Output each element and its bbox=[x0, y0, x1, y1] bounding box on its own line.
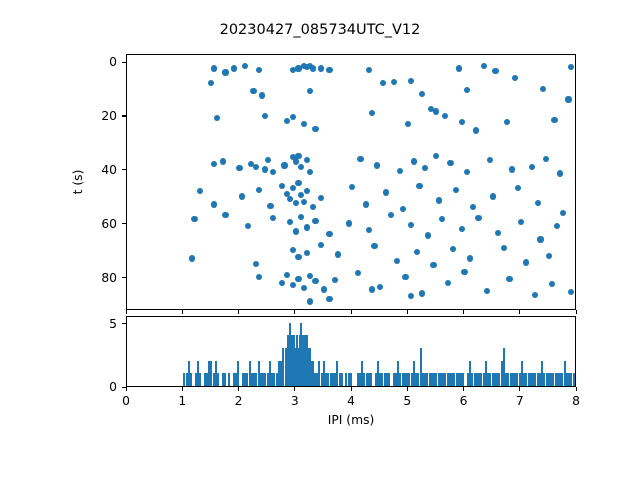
scatter-point bbox=[453, 187, 459, 193]
scatter-point bbox=[279, 183, 285, 189]
scatter-point bbox=[245, 223, 251, 229]
scatter-x-tick bbox=[519, 310, 520, 314]
scatter-point bbox=[450, 246, 456, 252]
scatter-point bbox=[405, 121, 411, 127]
scatter-x-tick bbox=[238, 310, 239, 314]
scatter-point bbox=[293, 158, 299, 164]
scatter-point bbox=[318, 65, 324, 71]
scatter-point bbox=[369, 110, 375, 116]
scatter-point bbox=[445, 280, 451, 286]
scatter-point bbox=[475, 215, 481, 221]
scatter-point bbox=[411, 158, 417, 164]
histogram-x-ticklabel: 3 bbox=[291, 394, 299, 408]
scatter-point bbox=[281, 162, 287, 168]
figure-title: 20230427_085734UTC_V12 bbox=[0, 22, 640, 38]
scatter-point bbox=[374, 162, 380, 168]
histogram-x-tick bbox=[182, 387, 183, 391]
scatter-point bbox=[262, 166, 268, 172]
scatter-point bbox=[447, 160, 453, 166]
scatter-point bbox=[532, 292, 538, 298]
scatter-point bbox=[377, 284, 383, 290]
scatter-point bbox=[301, 121, 307, 127]
scatter-point bbox=[197, 188, 203, 194]
scatter-point bbox=[549, 281, 555, 287]
scatter-point bbox=[284, 272, 290, 278]
scatter-x-tick bbox=[182, 310, 183, 314]
scatter-point bbox=[419, 290, 425, 296]
scatter-point bbox=[189, 255, 195, 261]
scatter-point bbox=[298, 192, 304, 198]
histogram-x-tick bbox=[463, 387, 464, 391]
scatter-point bbox=[293, 200, 299, 206]
scatter-point bbox=[464, 87, 470, 93]
scatter-point bbox=[363, 201, 369, 207]
histogram-x-ticklabel: 6 bbox=[460, 394, 468, 408]
histogram-bar bbox=[224, 373, 226, 386]
scatter-point bbox=[515, 185, 521, 191]
histogram-x-tick bbox=[576, 387, 577, 391]
histogram-bar bbox=[199, 373, 201, 386]
scatter-point bbox=[400, 206, 406, 212]
scatter-point bbox=[551, 117, 557, 123]
scatter-point bbox=[416, 183, 422, 189]
scatter-point bbox=[557, 170, 563, 176]
scatter-x-tick bbox=[126, 310, 127, 314]
scatter-point bbox=[554, 223, 560, 229]
scatter-point bbox=[543, 156, 549, 162]
scatter-point bbox=[509, 166, 515, 172]
scatter-point bbox=[535, 200, 541, 206]
scatter-point bbox=[211, 161, 217, 167]
scatter-point bbox=[366, 67, 372, 73]
scatter-point bbox=[492, 68, 498, 74]
scatter-point bbox=[301, 285, 307, 291]
scatter-point bbox=[422, 165, 428, 171]
scatter-point bbox=[357, 156, 363, 162]
histogram-bar bbox=[575, 373, 576, 386]
scatter-point bbox=[293, 228, 299, 234]
scatter-point bbox=[236, 165, 242, 171]
scatter-point bbox=[495, 230, 501, 236]
histogram-bar bbox=[237, 361, 239, 386]
scatter-point bbox=[270, 215, 276, 221]
scatter-point bbox=[270, 169, 276, 175]
scatter-point bbox=[512, 75, 518, 81]
scatter-point bbox=[253, 164, 259, 170]
scatter-point bbox=[501, 245, 507, 251]
histogram-bar bbox=[370, 373, 372, 386]
histogram-y-tick bbox=[122, 323, 126, 324]
histogram-x-ticklabel: 2 bbox=[235, 394, 243, 408]
histogram-bar bbox=[350, 373, 352, 386]
scatter-point bbox=[304, 250, 310, 256]
scatter-point bbox=[290, 185, 296, 191]
scatter-point bbox=[290, 282, 296, 288]
scatter-point bbox=[312, 278, 318, 284]
scatter-point bbox=[523, 259, 529, 265]
scatter-point bbox=[335, 251, 341, 257]
scatter-point bbox=[371, 243, 377, 249]
scatter-point bbox=[312, 126, 318, 132]
scatter-point bbox=[304, 224, 310, 230]
scatter-point bbox=[419, 91, 425, 97]
scatter-plot-axes bbox=[126, 54, 576, 310]
scatter-point bbox=[298, 214, 304, 220]
scatter-point bbox=[529, 164, 535, 170]
scatter-point bbox=[310, 65, 316, 71]
scatter-point bbox=[568, 64, 574, 70]
histogram-x-ticklabel: 7 bbox=[516, 394, 524, 408]
scatter-point bbox=[253, 261, 259, 267]
scatter-point bbox=[414, 249, 420, 255]
scatter-point bbox=[425, 232, 431, 238]
scatter-point bbox=[287, 219, 293, 225]
scatter-point bbox=[459, 119, 465, 125]
scatter-point bbox=[267, 203, 273, 209]
histogram-x-tick bbox=[294, 387, 295, 391]
scatter-y-tick bbox=[122, 62, 126, 63]
histogram-y-ticklabel: 0 bbox=[109, 380, 117, 394]
histogram-bar bbox=[341, 373, 343, 386]
scatter-point bbox=[433, 108, 439, 114]
scatter-point bbox=[355, 270, 361, 276]
scatter-point bbox=[537, 236, 543, 242]
scatter-x-tick bbox=[351, 310, 352, 314]
scatter-point bbox=[436, 197, 442, 203]
scatter-point bbox=[290, 114, 296, 120]
scatter-point bbox=[481, 63, 487, 69]
histogram-y-ticklabel: 5 bbox=[109, 317, 117, 331]
scatter-x-tick bbox=[294, 310, 295, 314]
scatter-point bbox=[506, 276, 512, 282]
scatter-point bbox=[279, 280, 285, 286]
scatter-point bbox=[383, 189, 389, 195]
histogram-bar bbox=[190, 373, 192, 386]
scatter-point bbox=[295, 180, 301, 186]
scatter-y-ticklabel: 80 bbox=[101, 271, 117, 285]
scatter-point bbox=[326, 296, 332, 302]
histogram-x-tick bbox=[351, 387, 352, 391]
scatter-point bbox=[318, 242, 324, 248]
scatter-point bbox=[222, 69, 228, 75]
scatter-point bbox=[366, 227, 372, 233]
scatter-point bbox=[312, 218, 318, 224]
histogram-x-tick bbox=[126, 387, 127, 391]
scatter-point bbox=[518, 219, 524, 225]
scatter-point bbox=[307, 169, 313, 175]
scatter-point bbox=[191, 216, 197, 222]
scatter-point bbox=[290, 247, 296, 253]
scatter-point bbox=[298, 164, 304, 170]
scatter-point bbox=[310, 204, 316, 210]
scatter-y-tick bbox=[122, 277, 126, 278]
scatter-point bbox=[473, 127, 479, 133]
scatter-point bbox=[214, 115, 220, 121]
histogram-x-tick bbox=[238, 387, 239, 391]
scatter-point bbox=[304, 188, 310, 194]
scatter-point bbox=[394, 258, 400, 264]
histogram-axes bbox=[126, 316, 576, 387]
scatter-point bbox=[439, 216, 445, 222]
histogram-x-tick bbox=[519, 387, 520, 391]
scatter-point bbox=[369, 286, 375, 292]
scatter-point bbox=[259, 92, 265, 98]
scatter-point bbox=[408, 222, 414, 228]
scatter-point bbox=[433, 153, 439, 159]
scatter-point bbox=[318, 195, 324, 201]
scatter-point bbox=[307, 88, 313, 94]
scatter-point bbox=[568, 289, 574, 295]
scatter-x-tick bbox=[407, 310, 408, 314]
histogram-x-ticklabel: 8 bbox=[572, 394, 580, 408]
scatter-point bbox=[459, 226, 465, 232]
scatter-point bbox=[560, 210, 566, 216]
histogram-x-ticklabel: 4 bbox=[347, 394, 355, 408]
scatter-point bbox=[239, 193, 245, 199]
scatter-point bbox=[346, 220, 352, 226]
scatter-point bbox=[546, 253, 552, 259]
scatter-point bbox=[456, 65, 462, 71]
x-axis-label: IPI (ms) bbox=[126, 413, 576, 427]
scatter-point bbox=[208, 80, 214, 86]
scatter-point bbox=[397, 168, 403, 174]
scatter-y-tick bbox=[122, 169, 126, 170]
scatter-point bbox=[408, 293, 414, 299]
scatter-point bbox=[284, 118, 290, 124]
scatter-y-tick bbox=[122, 223, 126, 224]
histogram-x-ticklabel: 0 bbox=[122, 394, 130, 408]
y-axis-label: t (s) bbox=[71, 170, 85, 195]
scatter-point bbox=[487, 157, 493, 163]
scatter-point bbox=[304, 157, 310, 163]
scatter-point bbox=[295, 276, 301, 282]
scatter-y-ticklabel: 40 bbox=[101, 163, 117, 177]
scatter-point bbox=[242, 63, 248, 69]
scatter-x-tick bbox=[463, 310, 464, 314]
scatter-point bbox=[470, 204, 476, 210]
scatter-point bbox=[211, 65, 217, 71]
scatter-point bbox=[307, 298, 313, 304]
scatter-point bbox=[467, 255, 473, 261]
scatter-point bbox=[301, 199, 307, 205]
scatter-point bbox=[388, 212, 394, 218]
scatter-point bbox=[265, 157, 271, 163]
scatter-point bbox=[380, 80, 386, 86]
histogram-bar bbox=[388, 373, 390, 386]
scatter-point bbox=[349, 184, 355, 190]
scatter-point bbox=[540, 86, 546, 92]
scatter-point bbox=[256, 67, 262, 73]
scatter-point bbox=[484, 288, 490, 294]
scatter-point bbox=[295, 254, 301, 260]
scatter-point bbox=[321, 286, 327, 292]
histogram-x-tick bbox=[407, 387, 408, 391]
scatter-point bbox=[332, 277, 338, 283]
histogram-x-ticklabel: 1 bbox=[178, 394, 186, 408]
scatter-x-tick bbox=[576, 310, 577, 314]
scatter-point bbox=[250, 88, 256, 94]
scatter-point bbox=[461, 269, 467, 275]
scatter-point bbox=[442, 113, 448, 119]
scatter-point bbox=[326, 231, 332, 237]
histogram-x-ticklabel: 5 bbox=[403, 394, 411, 408]
scatter-point bbox=[231, 65, 237, 71]
scatter-point bbox=[262, 113, 268, 119]
scatter-y-ticklabel: 20 bbox=[101, 109, 117, 123]
scatter-point bbox=[326, 67, 332, 73]
scatter-point bbox=[295, 153, 301, 159]
histogram-bar bbox=[217, 373, 219, 386]
scatter-point bbox=[222, 212, 228, 218]
scatter-point bbox=[490, 193, 496, 199]
matplotlib-figure: 20230427_085734UTC_V12 t (s) IPI (ms) 02… bbox=[0, 0, 640, 480]
scatter-point bbox=[402, 274, 408, 280]
scatter-point bbox=[504, 119, 510, 125]
scatter-y-ticklabel: 0 bbox=[109, 55, 117, 69]
scatter-y-tick bbox=[122, 115, 126, 116]
scatter-y-ticklabel: 60 bbox=[101, 217, 117, 231]
scatter-point bbox=[430, 262, 436, 268]
scatter-point bbox=[220, 158, 226, 164]
scatter-point bbox=[565, 96, 571, 102]
scatter-point bbox=[256, 274, 262, 280]
scatter-point bbox=[256, 187, 262, 193]
scatter-point bbox=[391, 79, 397, 85]
histogram-bar bbox=[462, 373, 464, 386]
scatter-point bbox=[408, 78, 414, 84]
scatter-point bbox=[464, 169, 470, 175]
scatter-point bbox=[211, 201, 217, 207]
histogram-bar bbox=[228, 373, 230, 386]
